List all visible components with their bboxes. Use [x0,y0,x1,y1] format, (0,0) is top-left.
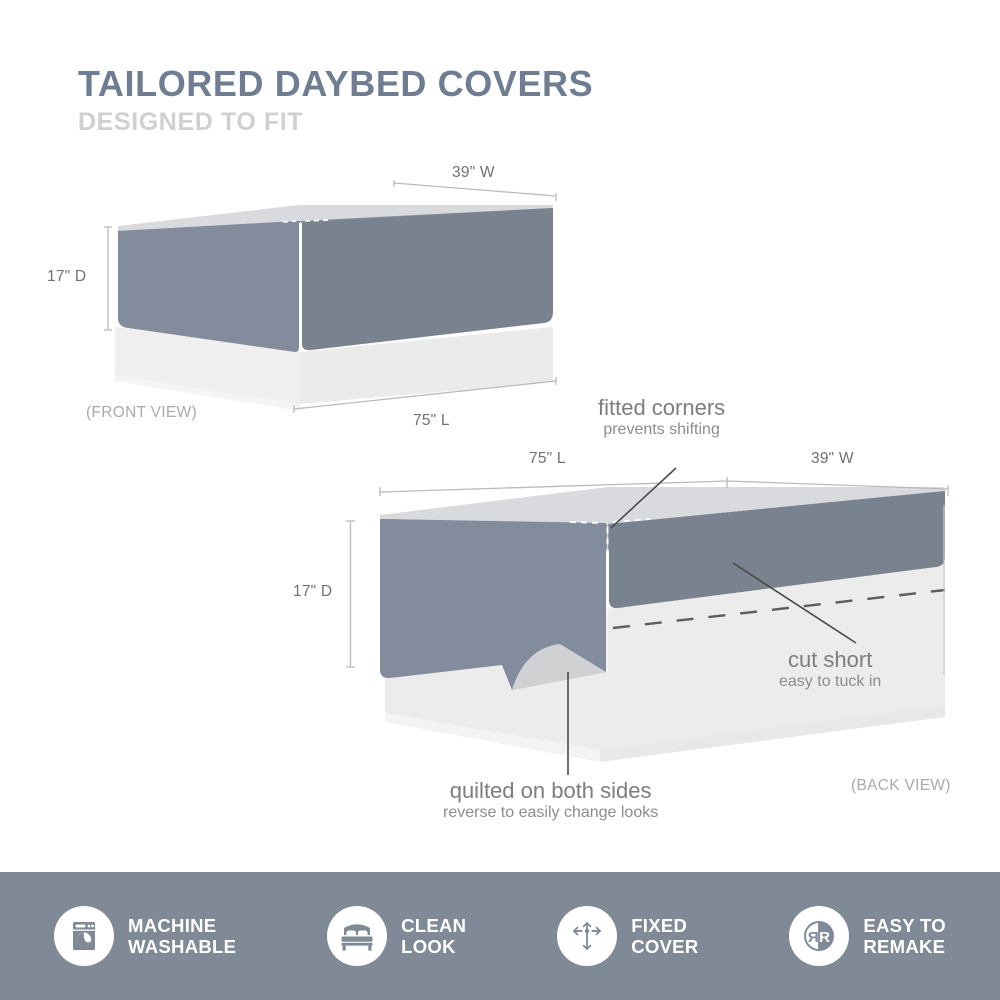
front-cover-right-panel [302,208,553,350]
callout-cut-short-title: cut short [779,647,881,672]
feature-clean-look-label: CLEAN LOOK [401,915,466,957]
front-dim-depth-bracket [104,227,112,330]
front-view-illustration [104,180,556,413]
diagram-stage: 39" W 17" D 75" L (FRONT VIEW) 75" L 39"… [0,0,1000,870]
callout-cut-short-subtitle: easy to tuck in [779,672,881,691]
callout-quilted-both-sides: quilted on both sides reverse to easily … [443,778,658,822]
front-dim-depth-label: 17" D [47,268,86,286]
front-dim-width-bracket [394,180,556,201]
feature-bar: MACHINE WASHABLE CLEAN LOOK [0,872,1000,1000]
back-dim-depth-bracket [346,521,355,667]
callout-fitted-corners-subtitle: prevents shifting [598,420,725,439]
back-dim-depth-label: 17" D [293,583,332,601]
svg-text:R: R [808,929,819,946]
feature-clean-look: CLEAN LOOK [327,906,466,966]
bed-icon [327,906,387,966]
feature-machine-washable: MACHINE WASHABLE [54,906,236,966]
feature-fixed-cover: FIXED COVER [557,906,698,966]
feature-fixed-cover-label: FIXED COVER [631,915,698,957]
front-dim-width-label: 39" W [452,164,495,182]
callout-quilted-subtitle: reverse to easily change looks [443,803,658,822]
front-dim-length-label: 75" L [413,412,450,430]
feature-easy-to-remake-label: EASY TO REMAKE [863,915,946,957]
back-dim-length-label: 75" L [529,450,566,468]
callout-cut-short: cut short easy to tuck in [779,647,881,691]
washing-machine-icon [54,906,114,966]
back-view-caption: (BACK VIEW) [851,777,951,795]
callout-fitted-corners: fitted corners prevents shifting [598,395,725,439]
callout-quilted-title: quilted on both sides [443,778,658,803]
feature-machine-washable-label: MACHINE WASHABLE [128,915,236,957]
reversible-r-icon: R R [789,906,849,966]
four-arrows-icon [557,906,617,966]
svg-text:R: R [820,929,831,946]
feature-easy-to-remake: R R EASY TO REMAKE [789,906,946,966]
back-view-illustration [346,468,948,775]
front-view-caption: (FRONT VIEW) [86,404,197,422]
callout-fitted-corners-title: fitted corners [598,395,725,420]
infographic-page: TAILORED DAYBED COVERS DESIGNED TO FIT [0,0,1000,1000]
back-dim-width-label: 39" W [811,450,854,468]
